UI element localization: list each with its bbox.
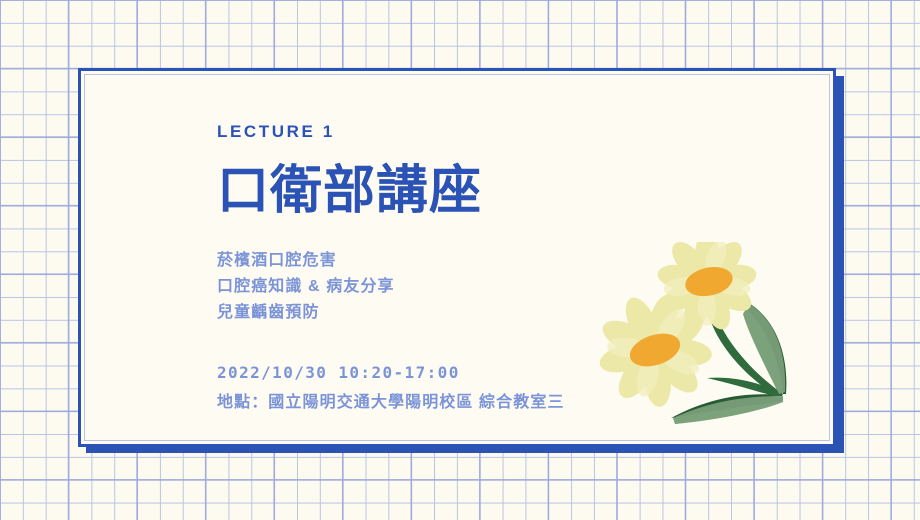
lecture-poster-card: LECTURE 1 口衛部講座 菸檳酒口腔危害 口腔癌知識 & 病友分享 兒童齲… — [78, 68, 836, 447]
lecture-label: LECTURE 1 — [217, 123, 677, 140]
daisy-flowers-illustration — [597, 242, 827, 442]
page-title: 口衛部講座 — [217, 162, 677, 220]
